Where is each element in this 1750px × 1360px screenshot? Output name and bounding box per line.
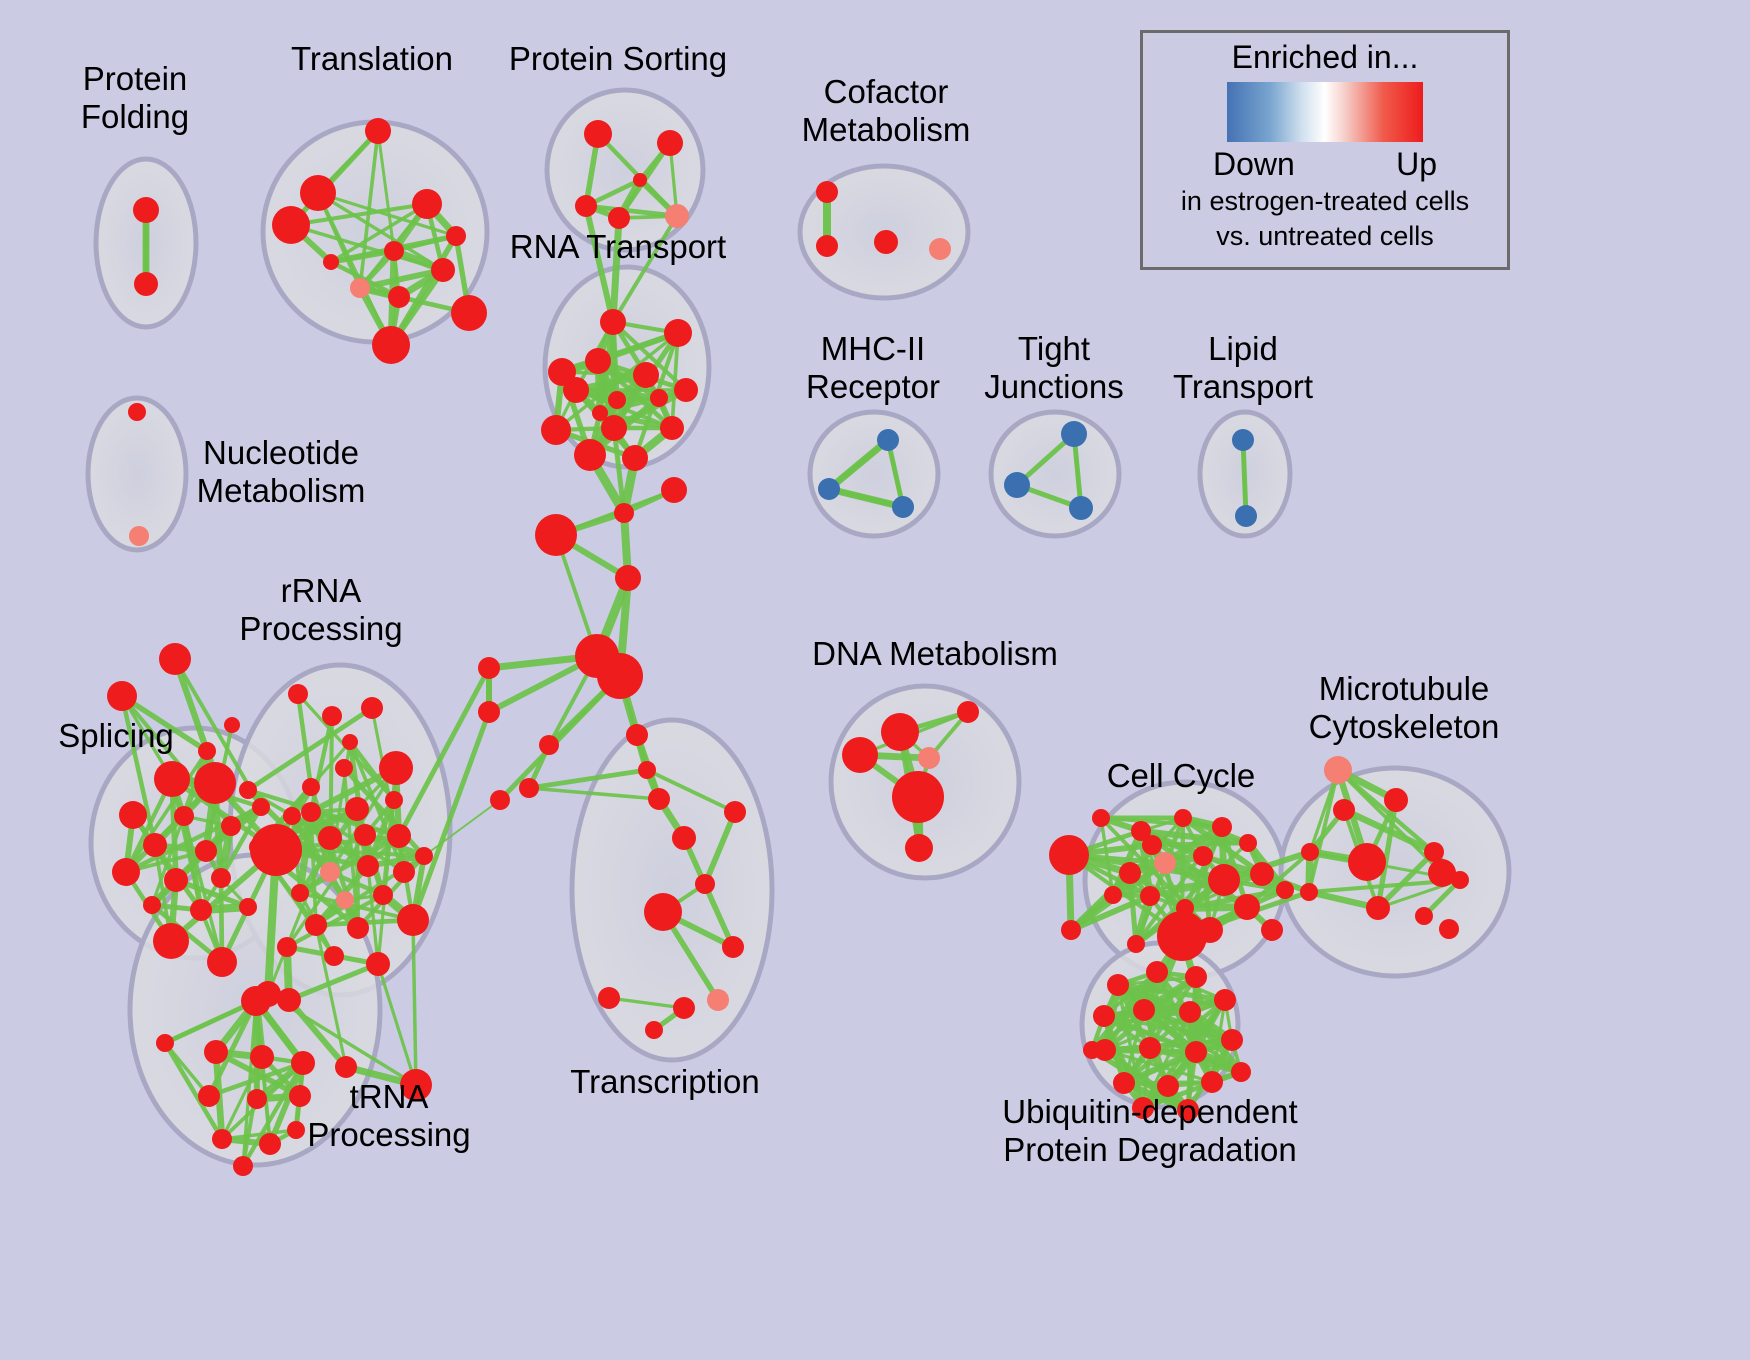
gene-set-node[interactable] <box>672 826 696 850</box>
gene-set-node[interactable] <box>388 286 410 308</box>
gene-set-node[interactable] <box>1004 472 1030 498</box>
gene-set-node[interactable] <box>673 997 695 1019</box>
gene-set-node[interactable] <box>272 206 310 244</box>
gene-set-node[interactable] <box>1104 886 1122 904</box>
gene-set-node[interactable] <box>478 701 500 723</box>
gene-set-node[interactable] <box>664 319 692 347</box>
gene-set-node[interactable] <box>1231 1062 1251 1082</box>
gene-set-node[interactable] <box>633 173 647 187</box>
gene-set-node[interactable] <box>478 657 500 679</box>
gene-set-node[interactable] <box>239 898 257 916</box>
cluster-label-protein-sorting: Protein Sorting <box>509 40 727 78</box>
gene-set-node[interactable] <box>283 807 301 825</box>
gene-set-node[interactable] <box>1093 1005 1115 1027</box>
cluster-label-lipid-transport: Lipid Transport <box>1173 330 1313 406</box>
gene-set-node[interactable] <box>335 759 353 777</box>
gene-set-node[interactable] <box>1197 917 1223 943</box>
gene-set-node[interactable] <box>301 802 321 822</box>
gene-set-node[interactable] <box>638 761 656 779</box>
gene-set-node[interactable] <box>575 195 597 217</box>
gene-set-node[interactable] <box>379 751 413 785</box>
gene-set-node[interactable] <box>1214 989 1236 1011</box>
gene-set-node[interactable] <box>324 946 344 966</box>
gene-set-node[interactable] <box>626 724 648 746</box>
gene-set-node[interactable] <box>431 258 455 282</box>
gene-set-node[interactable] <box>247 1089 267 1109</box>
gene-set-node[interactable] <box>323 254 339 270</box>
gene-set-node[interactable] <box>541 415 571 445</box>
gene-set-node[interactable] <box>1384 788 1408 812</box>
gene-set-node[interactable] <box>1154 852 1176 874</box>
gene-set-node[interactable] <box>393 861 415 883</box>
gene-set-node[interactable] <box>291 884 309 902</box>
gene-set-node[interactable] <box>239 781 257 799</box>
gene-set-node[interactable] <box>1107 974 1129 996</box>
gene-set-node[interactable] <box>204 1040 228 1064</box>
gene-set-node[interactable] <box>724 801 746 823</box>
gene-set-node[interactable] <box>650 389 668 407</box>
gene-set-node[interactable] <box>153 923 189 959</box>
cluster-label-rna-transport: RNA Transport <box>510 228 726 266</box>
gene-set-node[interactable] <box>1451 871 1469 889</box>
enrichment-map-figure: Enriched in... Down Up in estrogen-treat… <box>0 0 1750 1360</box>
gene-set-node[interactable] <box>211 868 231 888</box>
gene-set-node[interactable] <box>1300 883 1318 901</box>
gene-set-node[interactable] <box>722 936 744 958</box>
gene-set-node[interactable] <box>1113 1072 1135 1094</box>
cluster-label-microtubule-cytoskeleton: Microtubule Cytoskeleton <box>1309 670 1500 746</box>
gene-set-node[interactable] <box>372 326 410 364</box>
gene-set-node[interactable] <box>1212 817 1232 837</box>
cluster-label-cell-cycle: Cell Cycle <box>1107 757 1256 795</box>
gene-set-node[interactable] <box>1193 846 1213 866</box>
cluster-label-tight-junctions: Tight Junctions <box>984 330 1123 406</box>
gene-set-node[interactable] <box>347 917 369 939</box>
gene-set-node[interactable] <box>302 778 320 796</box>
gene-set-node[interactable] <box>1127 935 1145 953</box>
gene-set-node[interactable] <box>385 791 403 809</box>
gene-set-node[interactable] <box>154 761 190 797</box>
gene-set-node[interactable] <box>1276 881 1294 899</box>
gene-set-node[interactable] <box>657 130 683 156</box>
gene-set-node[interactable] <box>195 840 217 862</box>
gene-set-node[interactable] <box>1201 1071 1223 1093</box>
gene-set-node[interactable] <box>159 643 191 675</box>
gene-set-node[interactable] <box>592 405 608 421</box>
gene-set-node[interactable] <box>397 904 429 936</box>
gene-set-node[interactable] <box>598 987 620 1009</box>
gene-set-node[interactable] <box>322 706 342 726</box>
gene-set-node[interactable] <box>320 862 340 882</box>
gene-set-node[interactable] <box>119 801 147 829</box>
gene-set-node[interactable] <box>318 826 342 850</box>
cluster-label-cofactor-metabolism: Cofactor Metabolism <box>802 73 971 149</box>
cluster-label-dna-metabolism: DNA Metabolism <box>812 635 1058 673</box>
cluster-label-translation: Translation <box>291 40 453 78</box>
gene-set-node[interactable] <box>174 806 194 826</box>
gene-set-node[interactable] <box>224 717 240 733</box>
gene-set-node[interactable] <box>633 362 659 388</box>
gene-set-node[interactable] <box>1179 1001 1201 1023</box>
gene-set-node[interactable] <box>277 937 297 957</box>
gene-set-node[interactable] <box>816 235 838 257</box>
gene-set-node[interactable] <box>300 175 336 211</box>
gene-set-node[interactable] <box>842 737 878 773</box>
gene-set-node[interactable] <box>490 790 510 810</box>
gene-set-node[interactable] <box>354 824 376 846</box>
gene-set-node[interactable] <box>1439 919 1459 939</box>
gene-set-node[interactable] <box>365 118 391 144</box>
gene-set-node[interactable] <box>563 377 589 403</box>
gene-set-node[interactable] <box>129 526 149 546</box>
gene-set-node[interactable] <box>1324 756 1352 784</box>
gene-set-node[interactable] <box>415 847 433 865</box>
gene-set-node[interactable] <box>597 653 643 699</box>
cluster-label-nucleotide-metabolism: Nucleotide Metabolism <box>197 434 366 510</box>
cluster-label-transcription: Transcription <box>570 1063 760 1101</box>
gene-set-node[interactable] <box>207 947 237 977</box>
gene-set-node[interactable] <box>957 701 979 723</box>
gene-set-node[interactable] <box>929 238 951 260</box>
gene-set-node[interactable] <box>674 378 698 402</box>
gene-set-node[interactable] <box>249 838 267 856</box>
gene-set-node[interactable] <box>305 914 327 936</box>
gene-set-node[interactable] <box>335 1056 357 1078</box>
gene-set-node[interactable] <box>1185 966 1207 988</box>
gene-set-node[interactable] <box>291 1051 315 1075</box>
gene-set-node[interactable] <box>1174 809 1192 827</box>
gene-set-node[interactable] <box>1083 1041 1101 1059</box>
gene-set-node[interactable] <box>1133 999 1155 1021</box>
gene-set-node[interactable] <box>644 893 682 931</box>
gene-set-node[interactable] <box>874 230 898 254</box>
legend-subtitle-line1: in estrogen-treated cells <box>1181 185 1469 218</box>
gene-set-node[interactable] <box>212 1129 232 1149</box>
gene-set-node[interactable] <box>194 762 236 804</box>
gene-set-node[interactable] <box>648 788 670 810</box>
gene-set-node[interactable] <box>259 1133 281 1155</box>
gene-set-node[interactable] <box>645 1021 663 1039</box>
gene-set-node[interactable] <box>336 891 354 909</box>
gene-set-node[interactable] <box>535 514 577 556</box>
cluster-label-rrna-processing: rRNA Processing <box>239 572 402 648</box>
gene-set-node[interactable] <box>143 896 161 914</box>
gene-set-node[interactable] <box>1301 843 1319 861</box>
edge <box>1243 440 1246 516</box>
gene-set-node[interactable] <box>1348 843 1386 881</box>
gene-set-node[interactable] <box>660 416 684 440</box>
gene-set-node[interactable] <box>134 272 158 296</box>
gene-set-node[interactable] <box>1069 496 1093 520</box>
gene-set-node[interactable] <box>1250 862 1274 886</box>
gene-set-node[interactable] <box>608 391 626 409</box>
gene-set-node[interactable] <box>241 986 271 1016</box>
gene-set-node[interactable] <box>661 477 687 503</box>
gene-set-node[interactable] <box>574 439 606 471</box>
gene-set-node[interactable] <box>384 241 404 261</box>
gene-set-node[interactable] <box>252 798 270 816</box>
cluster-hull-mhc-ii-receptor[interactable] <box>810 412 938 536</box>
gene-set-node[interactable] <box>288 684 308 704</box>
gene-set-node[interactable] <box>451 295 487 331</box>
gene-set-node[interactable] <box>892 496 914 518</box>
gene-set-node[interactable] <box>608 207 630 229</box>
gene-set-node[interactable] <box>1208 864 1240 896</box>
gene-set-node[interactable] <box>881 713 919 751</box>
gene-set-node[interactable] <box>905 834 933 862</box>
gene-set-node[interactable] <box>250 1045 274 1069</box>
gene-set-node[interactable] <box>345 797 369 821</box>
gene-set-node[interactable] <box>361 697 383 719</box>
cluster-label-trna-processing: tRNA Processing <box>307 1078 470 1154</box>
gene-set-node[interactable] <box>818 478 840 500</box>
gene-set-node[interactable] <box>707 989 729 1011</box>
gene-set-node[interactable] <box>1139 1037 1161 1059</box>
gene-set-node[interactable] <box>585 348 611 374</box>
gene-set-node[interactable] <box>1415 907 1433 925</box>
gene-set-node[interactable] <box>366 952 390 976</box>
gene-set-node[interactable] <box>357 855 379 877</box>
legend-low-label: Down <box>1213 146 1295 183</box>
gene-set-node[interactable] <box>1232 429 1254 451</box>
color-ramp <box>1227 82 1423 142</box>
gene-set-node[interactable] <box>446 226 466 246</box>
cluster-label-mhc-ii-receptor: MHC-II Receptor <box>806 330 940 406</box>
gene-set-node[interactable] <box>350 278 370 298</box>
gene-set-node[interactable] <box>1061 421 1087 447</box>
gene-set-node[interactable] <box>1049 835 1089 875</box>
gene-set-node[interactable] <box>1261 919 1283 941</box>
gene-set-node[interactable] <box>1234 894 1260 920</box>
gene-set-node[interactable] <box>1366 896 1390 920</box>
gene-set-node[interactable] <box>1235 505 1257 527</box>
gene-set-node[interactable] <box>1221 1029 1243 1051</box>
gene-set-node[interactable] <box>221 816 241 836</box>
gene-set-node[interactable] <box>342 734 358 750</box>
gene-set-node[interactable] <box>233 1156 253 1176</box>
gene-set-node[interactable] <box>519 778 539 798</box>
gene-set-node[interactable] <box>1185 1041 1207 1063</box>
gene-set-node[interactable] <box>287 1121 305 1139</box>
gene-set-node[interactable] <box>615 565 641 591</box>
gene-set-node[interactable] <box>816 181 838 203</box>
gene-set-node[interactable] <box>133 197 159 223</box>
gene-set-node[interactable] <box>112 858 140 886</box>
cluster-label-protein-folding: Protein Folding <box>81 60 189 136</box>
gene-set-node[interactable] <box>614 503 634 523</box>
gene-set-node[interactable] <box>584 120 612 148</box>
gene-set-node[interactable] <box>1061 920 1081 940</box>
gene-set-node[interactable] <box>539 735 559 755</box>
gene-set-node[interactable] <box>1092 809 1110 827</box>
gene-set-node[interactable] <box>1333 799 1355 821</box>
gene-set-node[interactable] <box>198 1085 220 1107</box>
gene-set-node[interactable] <box>877 429 899 451</box>
gene-set-node[interactable] <box>600 309 626 335</box>
gene-set-node[interactable] <box>1131 821 1151 841</box>
gene-set-node[interactable] <box>695 874 715 894</box>
gene-set-node[interactable] <box>622 445 648 471</box>
gene-set-node[interactable] <box>1119 862 1141 884</box>
gene-set-node[interactable] <box>892 771 944 823</box>
gene-set-node[interactable] <box>107 681 137 711</box>
gene-set-node[interactable] <box>156 1034 174 1052</box>
cluster-label-ubiquitin-protein-degradation: Ubiquitin-dependent Protein Degradation <box>1002 1093 1297 1169</box>
gene-set-node[interactable] <box>373 885 393 905</box>
gene-set-node[interactable] <box>1424 842 1444 862</box>
cluster-label-splicing: Splicing <box>58 717 174 755</box>
gene-set-node[interactable] <box>128 403 146 421</box>
legend-panel: Enriched in... Down Up in estrogen-treat… <box>1140 30 1510 270</box>
legend-title: Enriched in... <box>1232 39 1419 76</box>
gene-set-node[interactable] <box>164 868 188 892</box>
gene-set-node[interactable] <box>1140 886 1160 906</box>
gene-set-node[interactable] <box>918 747 940 769</box>
legend-subtitle-line2: vs. untreated cells <box>1216 220 1434 253</box>
gene-set-node[interactable] <box>1239 834 1257 852</box>
gene-set-node[interactable] <box>665 204 689 228</box>
gene-set-node[interactable] <box>143 833 167 857</box>
gene-set-node[interactable] <box>190 899 212 921</box>
gene-set-node[interactable] <box>198 742 216 760</box>
gene-set-node[interactable] <box>1146 961 1168 983</box>
gene-set-node[interactable] <box>387 824 411 848</box>
legend-high-label: Up <box>1396 146 1437 183</box>
gene-set-node[interactable] <box>412 189 442 219</box>
cluster-hull-transcription[interactable] <box>572 720 772 1060</box>
